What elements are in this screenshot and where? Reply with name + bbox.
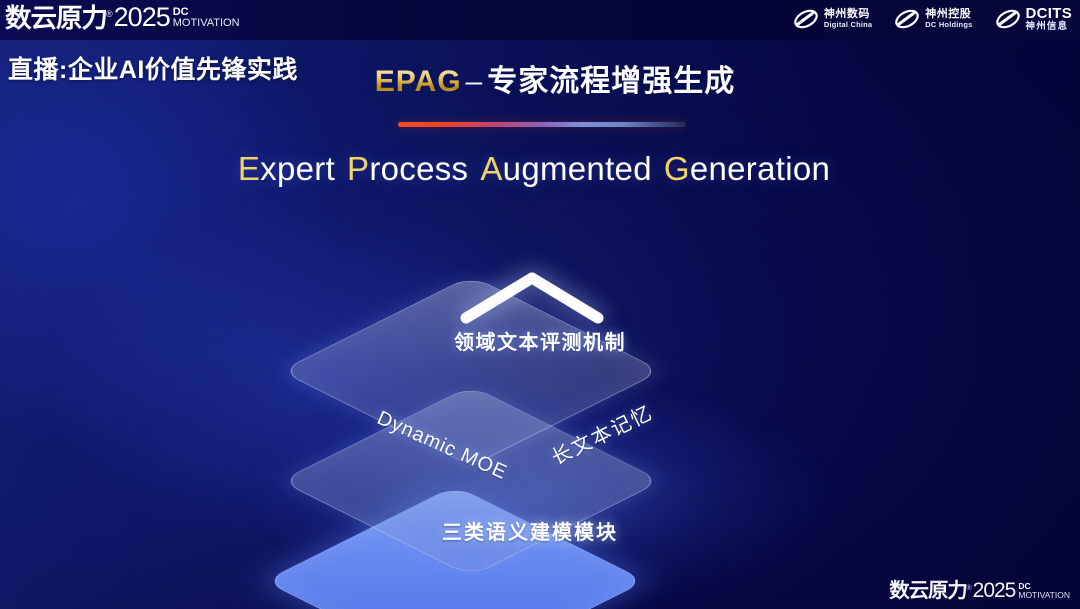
partner-name-en: Digital China (824, 21, 872, 29)
swoosh-logo-icon (995, 7, 1021, 31)
brand-motivation-label: MOTIVATION (173, 18, 240, 30)
watermark-logo: 数云原力 ® 2025 DC MOTIVATION (890, 580, 1070, 601)
brand-year: 2025 (114, 4, 170, 31)
subtitle-rest: xpert (260, 150, 335, 187)
partner-logo-dc-holdings: 神州控股 DC Holdings (894, 7, 972, 31)
swoosh-logo-icon (894, 7, 920, 31)
partner-text: 神州数码 Digital China (824, 9, 872, 28)
partner-name-cn: 神州控股 (925, 9, 972, 21)
watermark-motivation-label: MOTIVATION (1018, 591, 1070, 600)
headline-acronym: EPAG (375, 65, 462, 98)
subtitle-rest: rocess (369, 150, 468, 187)
partner-name-en: 神州信息 (1026, 22, 1073, 32)
chevron-up-icon (458, 270, 606, 326)
headline-dash: – (462, 65, 488, 98)
watermark-name-cn: 数云原力 (890, 581, 968, 601)
watermark-dc-motivation: DC MOTIVATION (1018, 582, 1070, 600)
layer-label-bottom: 三类语义建模模块 (290, 516, 770, 545)
subtitle-rest: ugmented (503, 150, 652, 187)
slide-canvas: 数云原力 ® 2025 DC MOTIVATION 神州数码 Digital C… (0, 0, 1080, 609)
swoosh-logo-icon (793, 7, 819, 31)
partner-name-en: DC Holdings (925, 21, 972, 29)
partner-name-cn: 神州数码 (824, 9, 872, 21)
subtitle-word-process: Process (347, 150, 468, 187)
partner-text: 神州控股 DC Holdings (925, 9, 972, 28)
partner-text: DCITS 神州信息 (1026, 6, 1073, 32)
partner-name-cn: DCITS (1026, 6, 1073, 22)
partner-logo-group: 神州数码 Digital China 神州控股 DC Holdings (793, 6, 1072, 32)
brand-dc-motivation: DC MOTIVATION (173, 7, 240, 30)
layer-label-top: 领域文本评测机制 (290, 326, 790, 355)
subtitle-rest: eneration (690, 150, 830, 187)
partner-logo-dcits: DCITS 神州信息 (995, 6, 1073, 32)
registered-mark-icon: ® (106, 10, 113, 19)
live-session-title: 直播:企业AI价值先锋实践 (8, 50, 298, 86)
brand-name-cn: 数云原力 (5, 5, 107, 31)
gradient-divider (398, 122, 686, 127)
subtitle-cap: G (664, 150, 690, 187)
brand-logo: 数云原力 ® 2025 DC MOTIVATION (6, 4, 240, 31)
subtitle-word-generation: Generation (664, 150, 830, 187)
subtitle-word-augmented: Augmented (480, 150, 652, 187)
headline-chinese: 专家流程增强生成 (487, 65, 735, 98)
subtitle-cap: A (480, 150, 502, 187)
subtitle-cap: P (347, 150, 369, 187)
layered-stack-diagram: 领域文本评测机制 Dynamic MOE 长文本记忆 三类语义建模模块 (290, 228, 790, 588)
watermark-year: 2025 (973, 580, 1016, 601)
partner-logo-digital-china: 神州数码 Digital China (793, 7, 872, 31)
registered-mark-icon: ® (966, 585, 971, 592)
subtitle-cap: E (238, 150, 260, 187)
page-subtitle: ExpertProcessAugmentedGeneration (0, 150, 1080, 188)
subtitle-word-expert: Expert (238, 150, 335, 187)
